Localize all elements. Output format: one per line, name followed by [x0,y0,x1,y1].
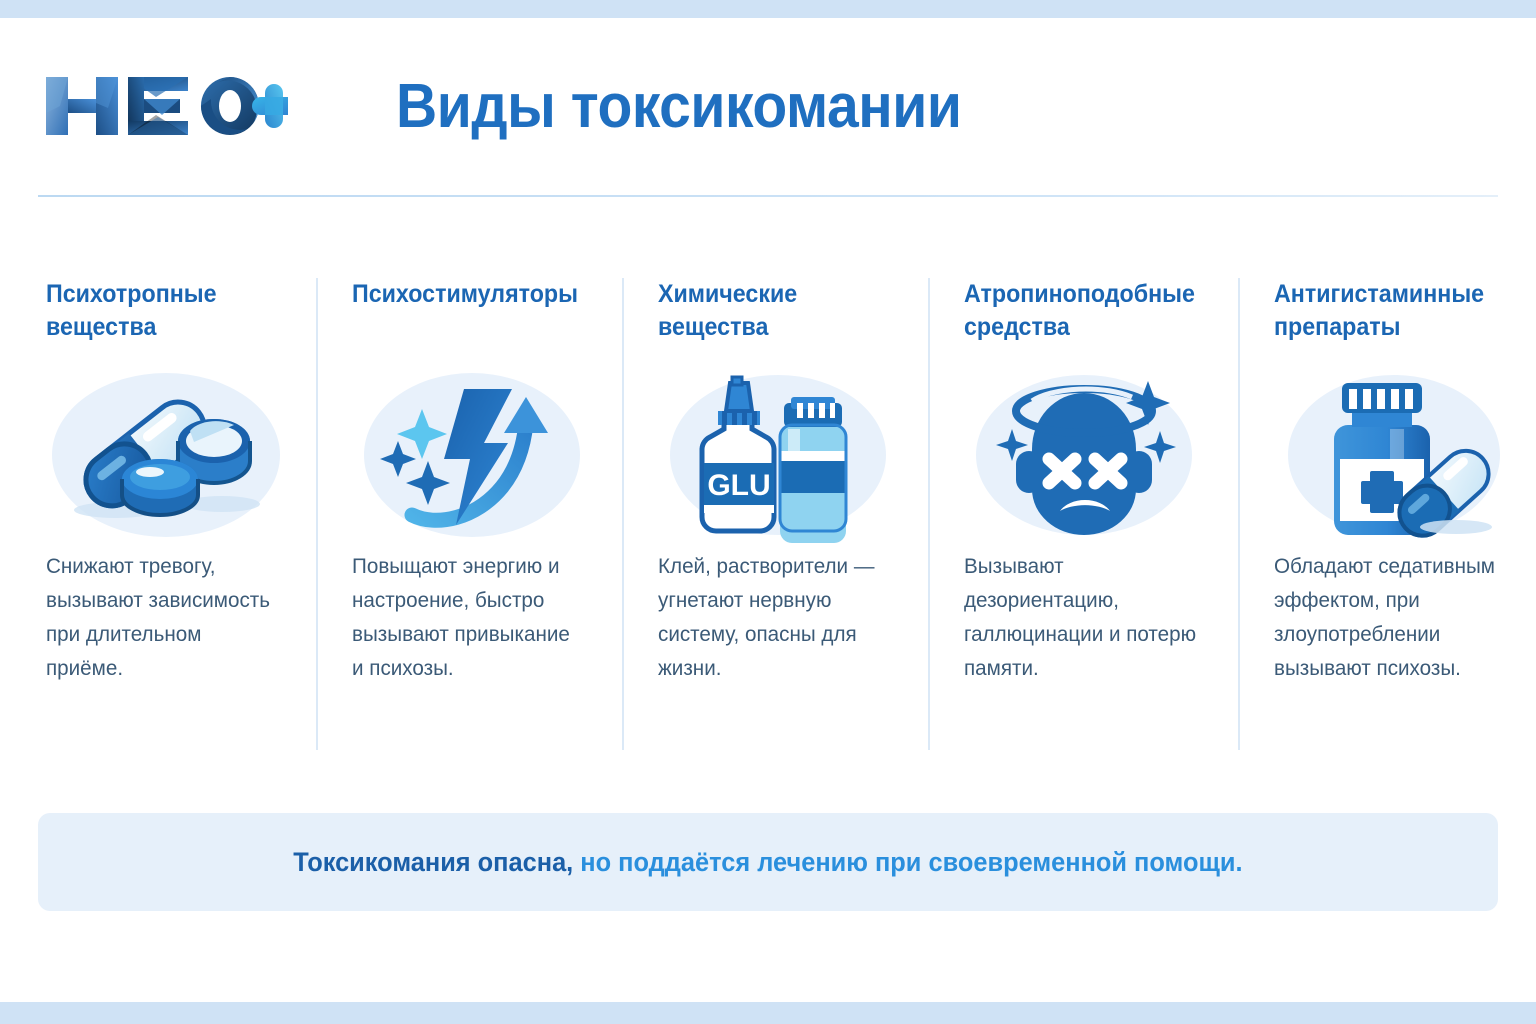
footer-message: Токсикомания опасна, но поддаётся лечени… [293,847,1242,878]
glue-solvent-bottles-icon: GLU [658,360,902,550]
category-description: Повыщают энергию и настроение, быстро вы… [352,550,586,686]
category-title: Психостимуляторы [352,278,579,354]
top-decorative-band [0,0,1536,18]
bottom-decorative-band [0,1002,1536,1024]
category-column-stimulants: Психостимуляторы [316,278,622,750]
page-title: Виды токсикомании [396,71,1410,142]
category-description: Снижают тревогу, вызывают зависимость пр… [46,550,280,686]
footer-message-rest: но поддаётся лечению при своевременной п… [573,847,1242,877]
category-description: Вызывают дезориентацию, галлюцинации и п… [964,550,1202,686]
category-title: Психотропные вещества [46,278,273,354]
lightning-arrow-sparkles-icon [352,360,596,550]
pill-bottle-capsule-icon [1274,360,1518,550]
category-description: Клей, растворители — угнетают нервную си… [658,550,892,686]
category-title: Химические вещества [658,278,885,354]
infographic-page: Виды токсикомании Психотропные вещества [0,0,1536,1024]
category-column-chemicals: Химические вещества [622,278,928,750]
header-divider [38,195,1498,197]
category-column-psychotropic: Психотропные вещества [38,278,316,750]
category-column-atropine: Атропиноподобные средства [928,278,1238,750]
glue-bottle-label: GLU [707,469,770,502]
category-title: Атропиноподобные средства [964,278,1195,354]
neo-plus-logo [38,63,288,149]
header: Виды токсикомании [38,46,1498,166]
pills-capsule-icon [46,360,290,550]
footer-banner: Токсикомания опасна, но поддаётся лечени… [38,813,1498,911]
category-column-antihistamines: Антигистаминные препараты [1238,278,1536,750]
categories-row: Психотропные вещества [38,278,1498,750]
category-title: Антигистаминные препараты [1274,278,1501,354]
category-description: Обладают седативным эффектом, при злоупо… [1274,550,1508,686]
content-card: Виды токсикомании Психотропные вещества [0,18,1536,1002]
footer-message-strong: Токсикомания опасна, [293,847,573,877]
dizzy-face-icon [964,360,1212,550]
